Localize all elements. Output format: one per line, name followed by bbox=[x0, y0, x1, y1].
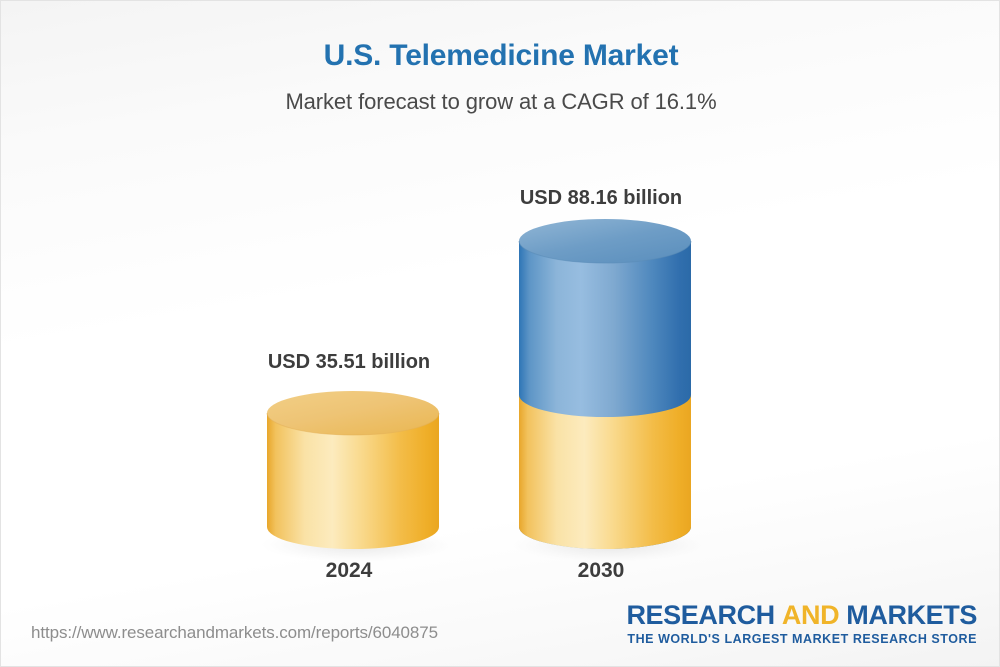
bar-group-2024: USD 35.51 billion bbox=[249, 161, 449, 581]
logo-wordmark: RESEARCH AND MARKETS bbox=[626, 601, 977, 629]
logo-word-research: RESEARCH bbox=[626, 600, 774, 630]
plot-area: USD 35.51 billion bbox=[31, 131, 971, 581]
chart-title: U.S. Telemedicine Market bbox=[1, 39, 1000, 73]
logo-tagline: THE WORLD'S LARGEST MARKET RESEARCH STOR… bbox=[626, 632, 977, 646]
chart-canvas: U.S. Telemedicine Market Market forecast… bbox=[0, 0, 1000, 667]
research-and-markets-logo[interactable]: RESEARCH AND MARKETS THE WORLD'S LARGEST… bbox=[626, 601, 977, 646]
cylinder-2030[interactable] bbox=[501, 161, 701, 581]
bar-group-2030: USD 88.16 billion bbox=[501, 161, 701, 581]
source-url[interactable]: https://www.researchandmarkets.com/repor… bbox=[31, 623, 438, 643]
cylinder-2030-body-base bbox=[519, 395, 691, 561]
chart-subtitle: Market forecast to grow at a CAGR of 16.… bbox=[1, 89, 1000, 115]
logo-word-and: AND bbox=[782, 600, 839, 630]
logo-word-markets: MARKETS bbox=[846, 600, 977, 630]
category-label-2024: 2024 bbox=[249, 559, 449, 583]
cylinder-2024[interactable] bbox=[249, 161, 449, 581]
category-label-2030: 2030 bbox=[501, 559, 701, 583]
